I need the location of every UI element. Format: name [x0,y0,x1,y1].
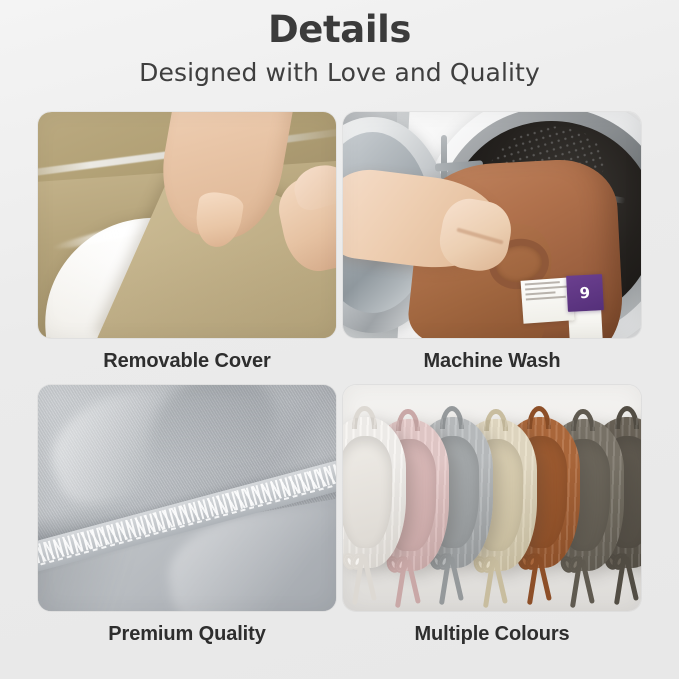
machine-wash-scene: 9 [343,112,641,338]
page-subtitle: Designed with Love and Quality [0,58,679,88]
removable-cover-scene [38,112,336,338]
care-label-line [526,296,566,301]
feature-cell-removable-cover: Removable Cover [38,112,336,373]
door-latch-post [441,135,447,180]
care-label-line [525,292,555,296]
feature-cell-machine-wash: 9 Machine Wash [343,112,641,373]
feature-image-multiple-colours[interactable] [343,385,641,611]
feature-cell-multiple-colours: Multiple Colours [343,385,641,646]
feature-image-removable-cover[interactable] [38,112,336,338]
feature-image-machine-wash[interactable]: 9 [343,112,641,338]
care-label-line [525,281,561,285]
feature-image-premium-quality[interactable] [38,385,336,611]
colourway-row [343,417,641,593]
multiple-colours-scene [343,385,641,611]
page-header: Details Designed with Love and Quality [0,0,679,88]
brand-tag: 9 [566,274,604,312]
care-label-line [525,286,568,291]
details-page: Details Designed with Love and Quality [0,0,679,679]
colourway-nest[interactable] [343,417,406,569]
feature-caption-premium-quality: Premium Quality [38,623,336,646]
feature-cell-premium-quality: Premium Quality [38,385,336,646]
brand-tag-text: 9 [566,274,604,312]
nest-mattress-base [343,436,392,548]
feature-caption-removable-cover: Removable Cover [38,350,336,373]
feature-grid: Removable Cover [38,112,641,646]
feature-caption-machine-wash: Machine Wash [343,350,641,373]
feature-caption-multiple-colours: Multiple Colours [343,623,641,646]
page-title: Details [0,8,679,52]
premium-quality-scene [38,385,336,611]
